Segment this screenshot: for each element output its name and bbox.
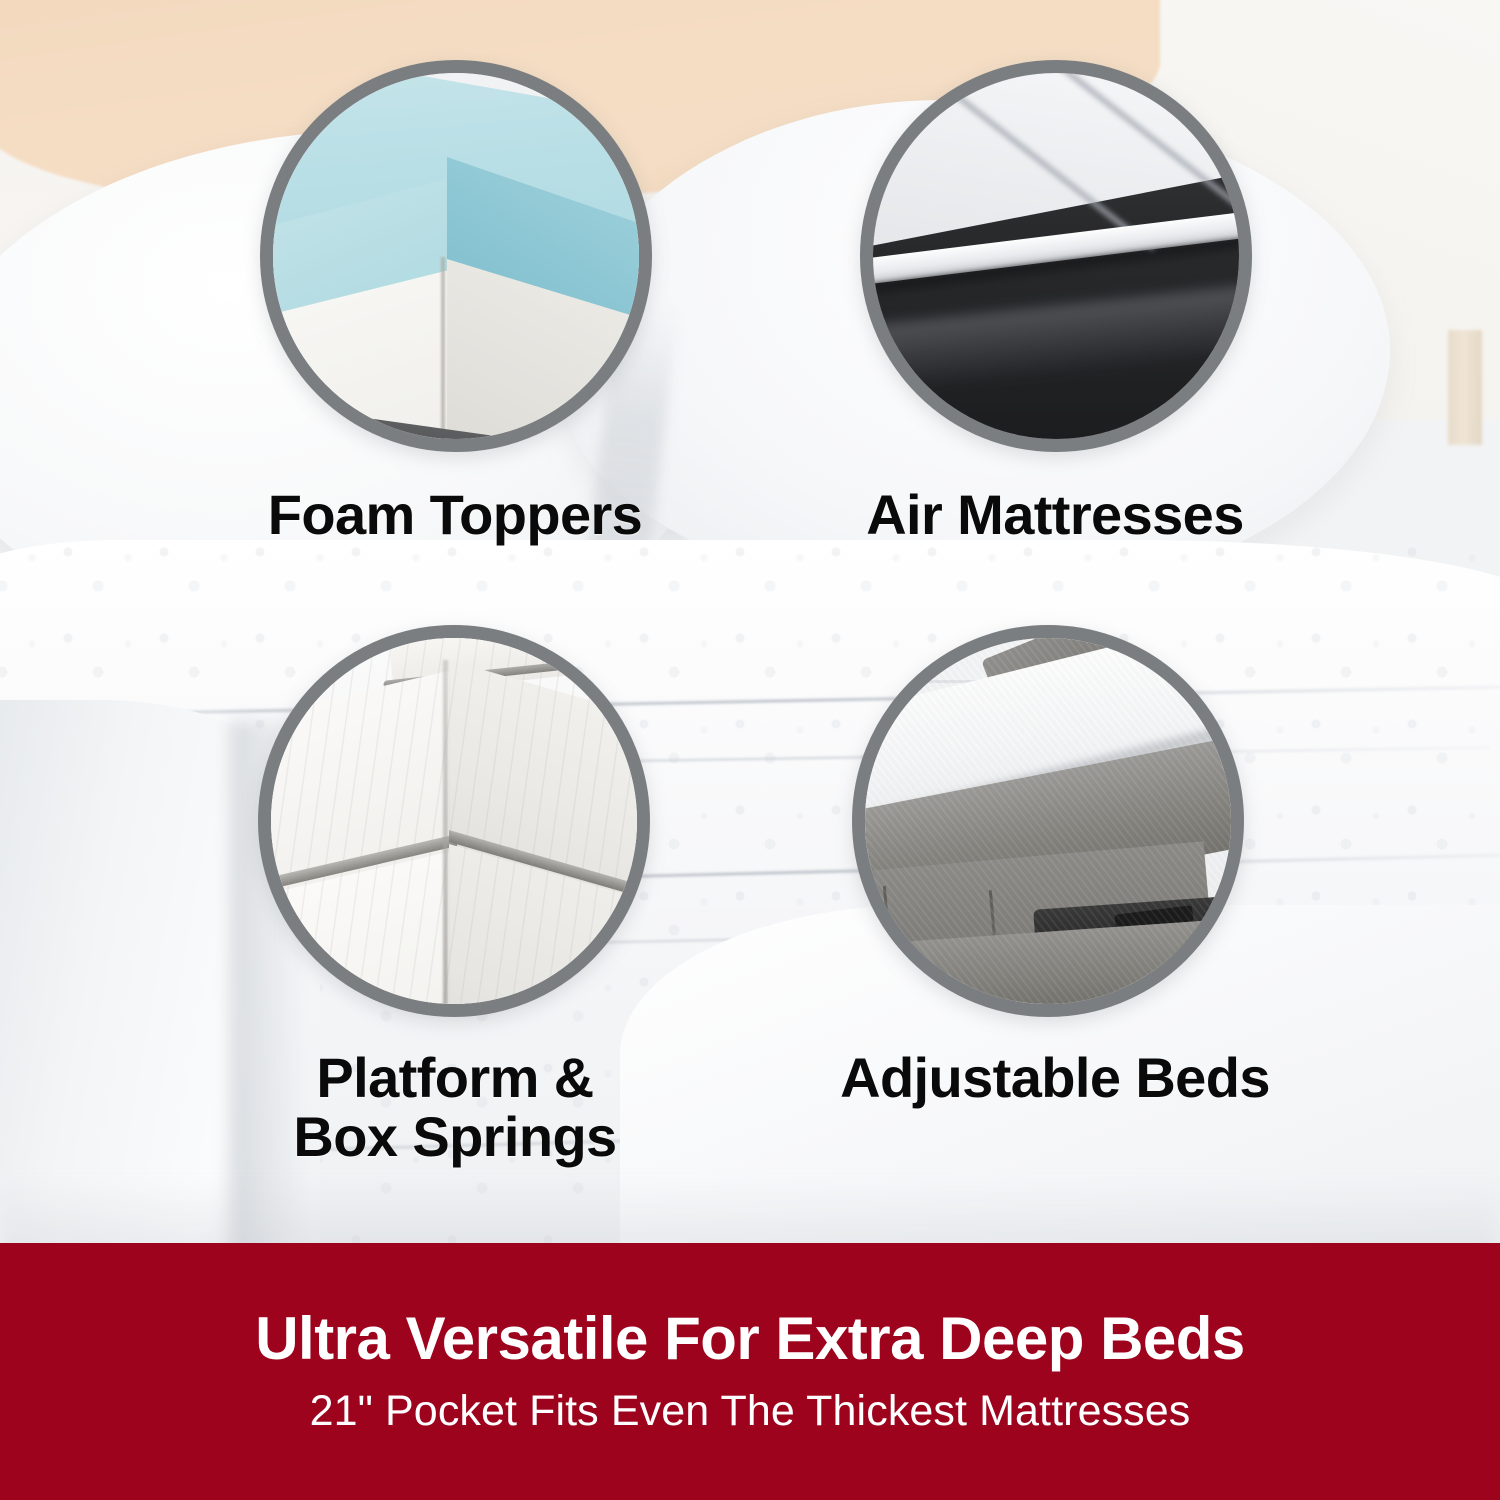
feature-circle-air-mattresses bbox=[860, 60, 1252, 452]
bed-frame-post bbox=[1448, 330, 1482, 445]
feature-circle-foam-toppers bbox=[260, 60, 652, 452]
feature-label-air-mattresses: Air Mattresses bbox=[745, 485, 1365, 544]
banner-subline: 21" Pocket Fits Even The Thickest Mattre… bbox=[310, 1388, 1191, 1435]
product-feature-panel: Foam Toppers Air Mattresses Platform & B… bbox=[0, 0, 1500, 1500]
feature-label-platform-box-springs: Platform & Box Springs bbox=[150, 1048, 760, 1167]
feature-label-adjustable-beds: Adjustable Beds bbox=[745, 1048, 1365, 1107]
adjustable-bed-photo bbox=[865, 638, 1231, 1004]
feature-circle-platform-box-springs bbox=[258, 625, 650, 1017]
quilting-texture bbox=[271, 638, 637, 1004]
feature-circle-adjustable-beds bbox=[852, 625, 1244, 1017]
foam-topper-photo bbox=[273, 73, 639, 439]
box-spring-photo bbox=[271, 638, 637, 1004]
banner-headline: Ultra Versatile For Extra Deep Beds bbox=[255, 1307, 1245, 1370]
air-mattress-photo bbox=[873, 73, 1239, 439]
promo-banner: Ultra Versatile For Extra Deep Beds 21" … bbox=[0, 1243, 1500, 1500]
foam-corner-edge bbox=[441, 257, 445, 437]
feature-label-foam-toppers: Foam Toppers bbox=[150, 485, 760, 544]
